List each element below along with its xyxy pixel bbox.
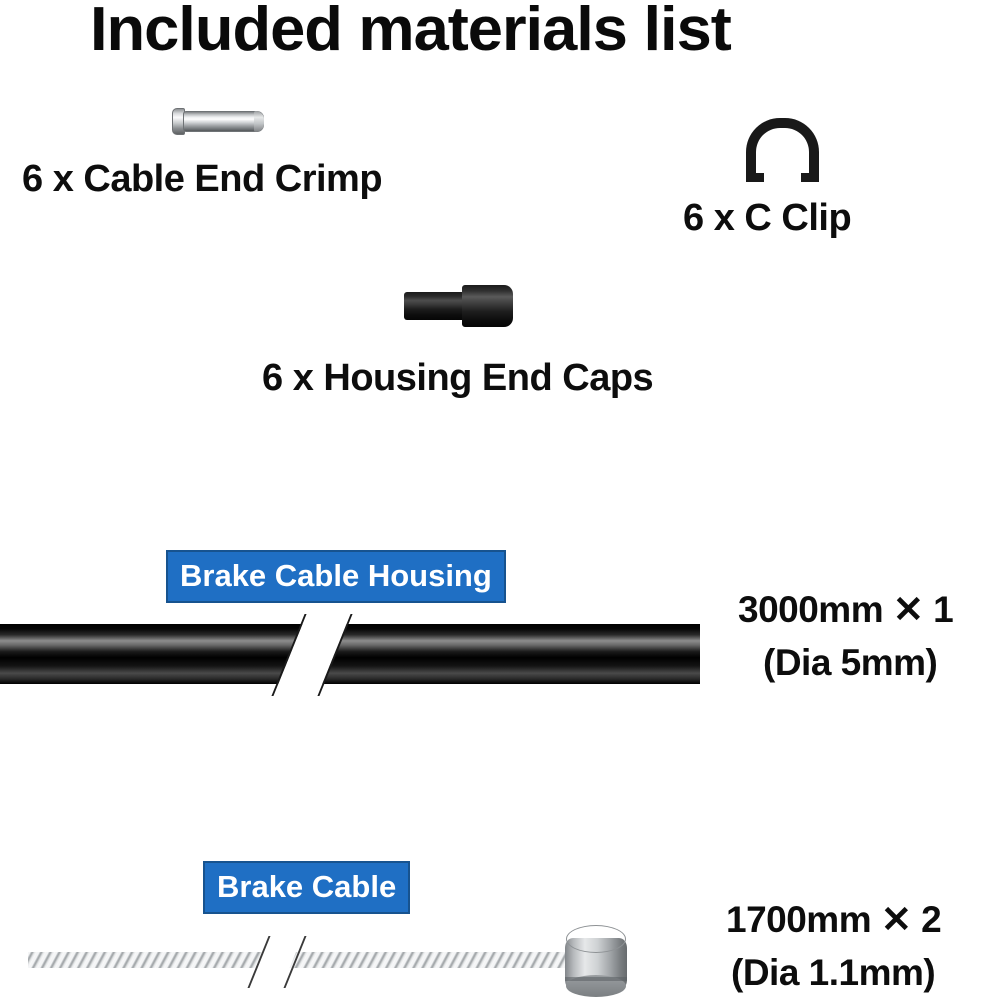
brake-cable-housing-badge: Brake Cable Housing — [166, 550, 506, 603]
housing-diameter-text: (Dia 5mm) — [763, 642, 937, 684]
materials-list-infographic: Included materials list 6 x Cable End Cr… — [0, 0, 997, 1000]
cable-barrel-nipple-icon — [565, 925, 627, 997]
c-clip-label: 6 x C Clip — [683, 197, 851, 240]
housing-end-cap-icon — [404, 285, 513, 327]
end-cap-shoulder — [462, 285, 513, 327]
nipple-top-face — [566, 925, 626, 953]
crimp-body — [183, 111, 264, 132]
c-clip-foot-right — [801, 173, 819, 182]
brake-cable-badge: Brake Cable — [203, 861, 410, 914]
cable-diameter-text: (Dia 1.1mm) — [731, 952, 935, 994]
c-clip-foot-left — [746, 173, 764, 182]
end-cap-neck — [404, 292, 466, 320]
housing-length-text: 3000mm ✕ 1 — [738, 588, 953, 631]
c-clip-icon — [746, 118, 819, 182]
cable-strand — [28, 952, 576, 968]
brake-cable-icon — [28, 952, 576, 968]
housing-tube — [0, 624, 700, 684]
brake-cable-housing-icon — [0, 624, 700, 684]
page-title: Included materials list — [90, 0, 731, 65]
cable-end-crimp-icon — [172, 108, 264, 135]
cable-end-crimp-label: 6 x Cable End Crimp — [22, 158, 382, 201]
cable-length-text: 1700mm ✕ 2 — [726, 898, 941, 941]
nipple-rim — [565, 977, 627, 981]
housing-end-caps-label: 6 x Housing End Caps — [262, 357, 653, 400]
